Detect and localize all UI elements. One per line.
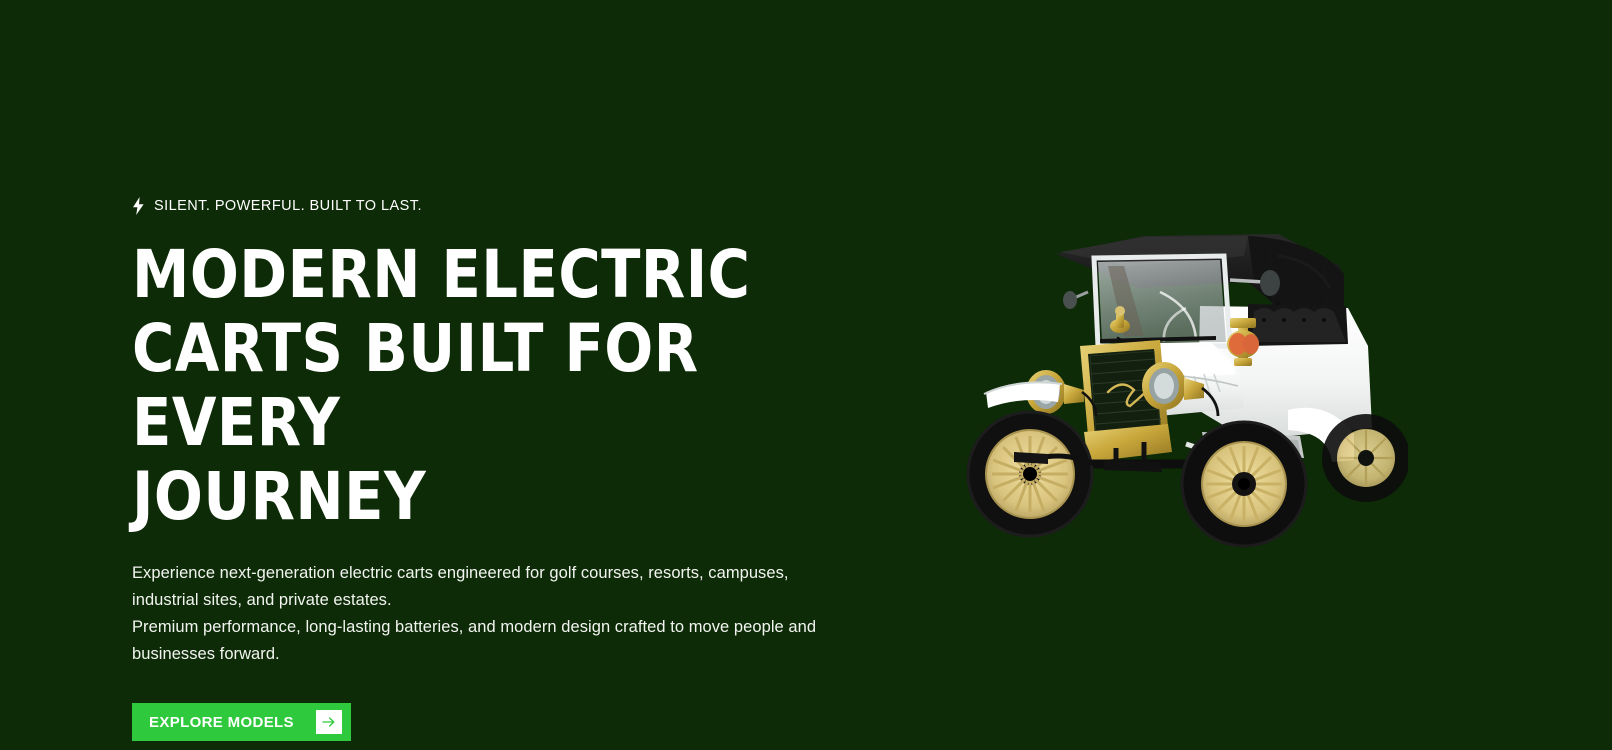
hero-description-paragraph-1: Experience next-generation electric cart…: [132, 560, 832, 614]
hero-description: Experience next-generation electric cart…: [132, 560, 922, 668]
hero-eyebrow: SILENT. POWERFUL. BUILT TO LAST.: [132, 196, 922, 216]
lightning-bolt-icon: [132, 197, 145, 215]
hero-description-paragraph-2: Premium performance, long-lasting batter…: [132, 614, 832, 668]
explore-models-button-label: EXPLORE MODELS: [149, 715, 294, 730]
arrow-right-icon: [322, 716, 336, 728]
hero-eyebrow-text: SILENT. POWERFUL. BUILT TO LAST.: [154, 199, 422, 214]
explore-models-arrow-box: [316, 710, 342, 734]
hero-vehicle-image: [948, 196, 1408, 576]
hero-cta-wrap: EXPLORE MODELS: [132, 703, 922, 741]
hero-section: SILENT. POWERFUL. BUILT TO LAST. MODERN …: [0, 0, 1612, 750]
page-title: MODERN ELECTRIC CARTS BUILT FOR EVERY JO…: [132, 238, 898, 534]
explore-models-button[interactable]: EXPLORE MODELS: [132, 703, 351, 741]
vintage-electric-cart-illustration: [948, 196, 1408, 576]
hero-copy-column: SILENT. POWERFUL. BUILT TO LAST. MODERN …: [132, 196, 922, 741]
